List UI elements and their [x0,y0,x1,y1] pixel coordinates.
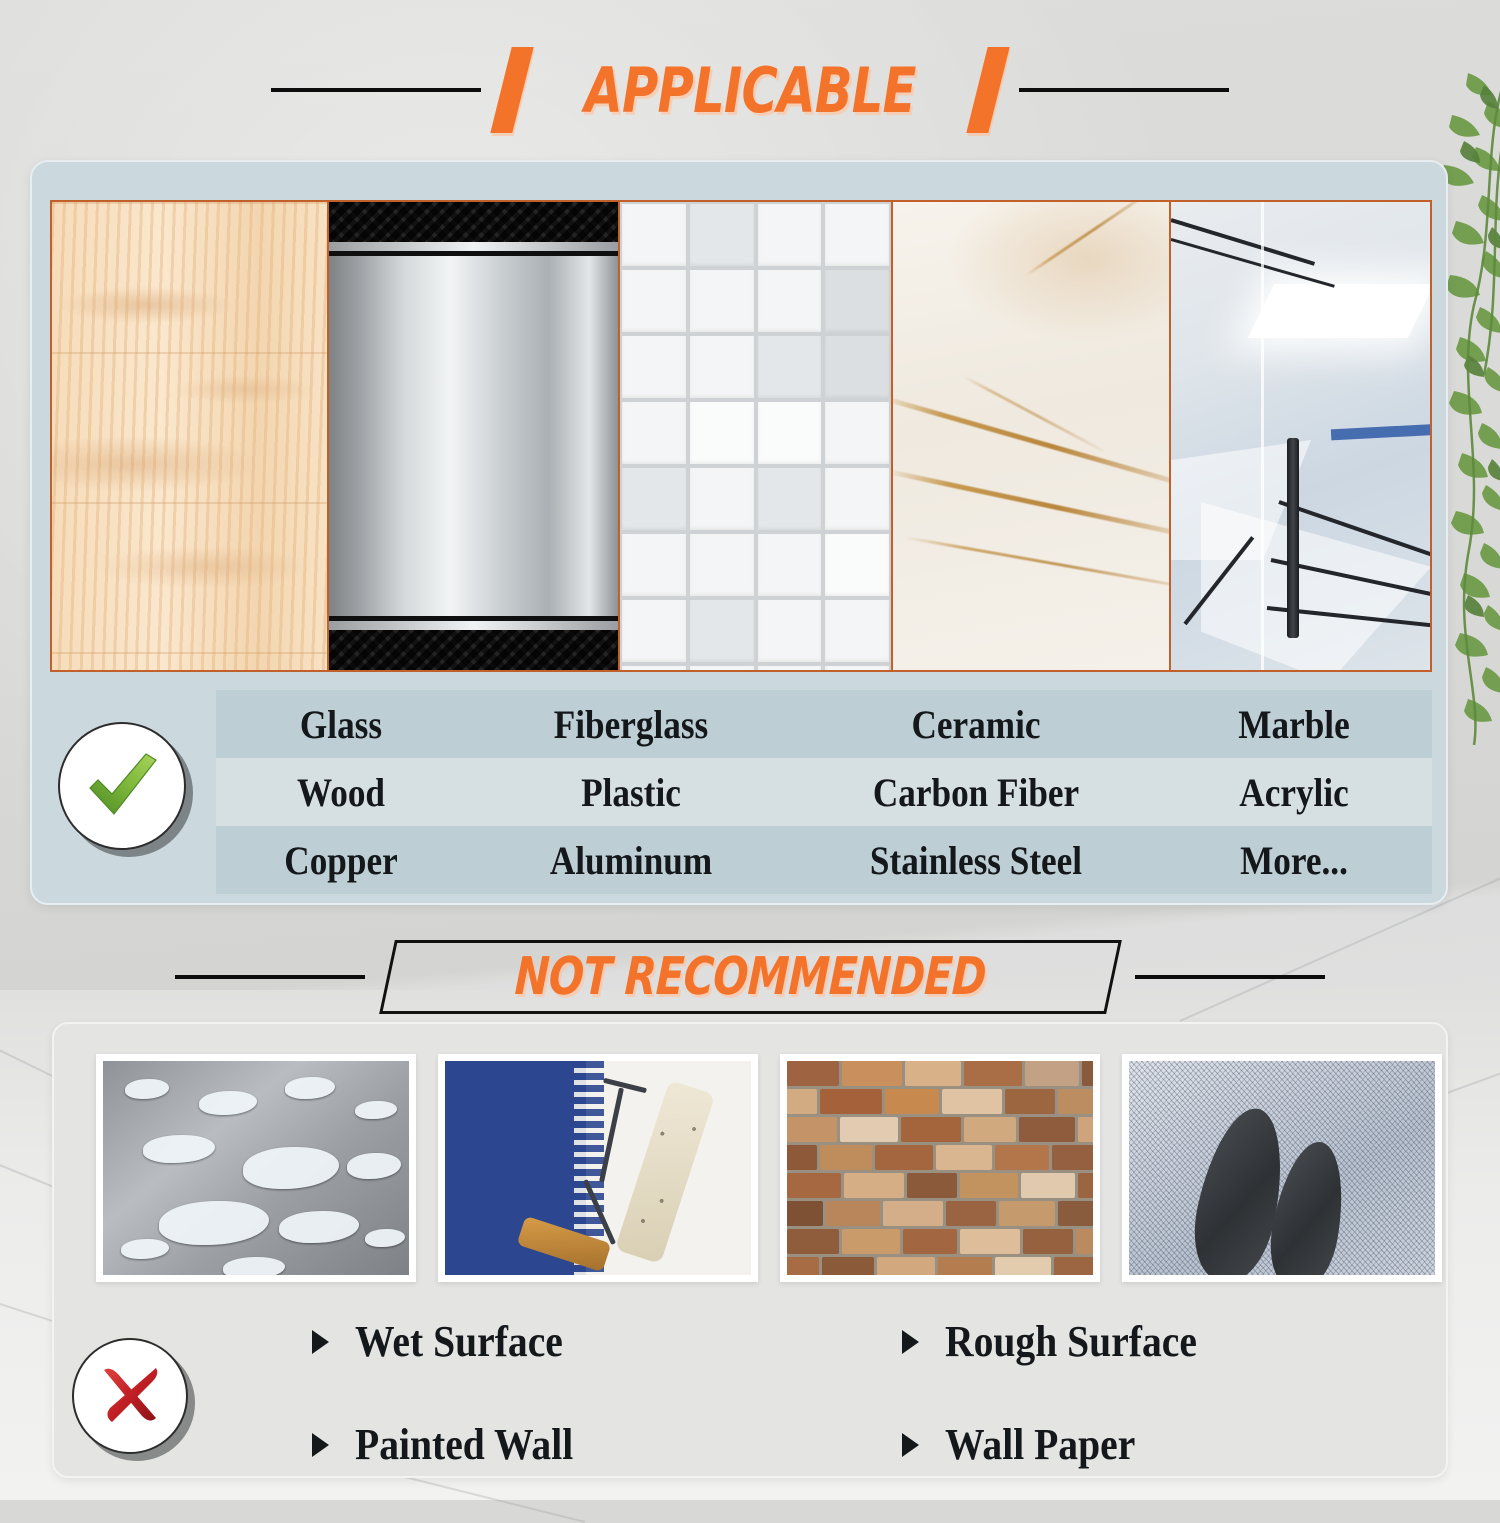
tile-cell [622,600,686,662]
not-recommended-list: Wet Surface Rough Surface Painted Wall W… [312,1316,1402,1470]
tile-cell [690,468,754,530]
brick-wall-image [787,1061,1093,1275]
brick [822,1257,874,1275]
brick [1078,1117,1093,1142]
brick [938,1257,992,1275]
wallpaper-roll-image [1129,1061,1435,1275]
tile-cell [758,534,822,596]
paint-roller-image [445,1061,751,1275]
not-recommended-title: NOT RECOMMENDED [497,947,1002,1007]
slash-left-icon [490,47,533,133]
tile-cell [758,270,822,332]
tile-cell [758,204,822,266]
list-item-label: Wall Paper [945,1419,1135,1470]
water-drop [365,1229,405,1247]
wall-paper-photo [1122,1054,1442,1282]
tile-cell [622,534,686,596]
door-handle [1287,438,1299,638]
water-drop [355,1101,397,1119]
brick [820,1145,872,1170]
painted-wall-photo [438,1054,758,1282]
brick [1005,1089,1055,1114]
brick [1025,1061,1079,1086]
tile-cell [690,666,754,670]
brick [840,1117,898,1142]
tile-cell [690,204,754,266]
water-drop [347,1153,401,1179]
skylight [1248,284,1430,338]
table-cell: Marble [1173,701,1416,748]
brick [885,1089,939,1114]
brick [842,1229,900,1254]
tile-cell [825,666,889,670]
applicable-title-core: APPLICABLE [481,47,1019,133]
water-droplets-image [103,1061,409,1275]
marble-panel [893,202,1171,670]
metal-mesh-top [329,202,618,256]
brick [787,1117,837,1142]
brick [901,1117,961,1142]
brick [1019,1117,1075,1142]
marble-vein [893,469,1171,540]
green-check-icon [76,740,168,832]
slash-right-icon [966,47,1009,133]
table-cell: Stainless Steel [818,837,1135,884]
brick-rows [787,1061,1093,1275]
brick [1078,1173,1093,1198]
brick [995,1257,1051,1275]
table-row: Copper Aluminum Stainless Steel More... [216,826,1432,894]
applicable-card: Glass Fiberglass Ceramic Marble Wood Pla… [30,160,1448,905]
water-drop [125,1079,169,1099]
glass-mullion [1261,202,1264,670]
tile-cell [622,204,686,266]
brick [960,1229,1020,1254]
table-row: Glass Fiberglass Ceramic Marble [216,690,1432,758]
not-recommended-photo-row [96,1054,1442,1282]
red-cross-icon [90,1356,170,1436]
list-item-label: Painted Wall [355,1419,573,1470]
brick [875,1145,933,1170]
blue-reflection [1331,423,1430,441]
tile-cell [825,468,889,530]
tile-cell [825,204,889,266]
brick [787,1201,823,1226]
rough-surface-photo [780,1054,1100,1282]
not-recommended-title-row: NOT RECOMMENDED [0,922,1500,1032]
title-rule-right [1135,975,1325,979]
applicable-title-row: APPLICABLE [0,42,1500,138]
roller-frame-wire [603,1078,647,1093]
roller-sleeve [615,1080,716,1264]
brick [1058,1089,1093,1114]
table-cell: Plastic [486,769,776,816]
metal-panel [329,202,620,670]
tile-cell [825,402,889,464]
triangle-bullet-icon [312,1433,329,1457]
tile-cell [758,468,822,530]
check-badge [58,722,186,850]
brick [1054,1257,1093,1275]
table-cell: More... [1173,837,1416,884]
material-photo-strip [50,200,1432,672]
tile-cell [690,270,754,332]
brick [1076,1229,1093,1254]
tile-cell [622,402,686,464]
tile-panel [620,202,893,670]
brick [960,1173,1018,1198]
tile-grid [620,202,891,670]
applicable-title: APPLICABLE [568,54,931,127]
metal-mesh-bottom [329,616,618,670]
wood-panel [52,202,329,670]
cross-badge [72,1338,188,1454]
wood-grain-texture [52,202,327,670]
brick [903,1229,957,1254]
table-cell: Glass [231,701,451,748]
brick [995,1145,1049,1170]
brick [1058,1201,1093,1226]
tile-cell [758,336,822,398]
marble-vein [893,395,1171,491]
brick [787,1145,817,1170]
not-recommended-title-box: NOT RECOMMENDED [379,940,1121,1014]
water-drop [285,1077,335,1099]
wet-surface-photo [96,1054,416,1282]
marble-vein [1025,202,1151,277]
brick-row [787,1117,1093,1145]
brick [883,1201,943,1226]
brick-row [787,1257,1093,1275]
water-drop [143,1135,215,1163]
table-cell: Carbon Fiber [818,769,1135,816]
table-cell: Acrylic [1173,769,1416,816]
brick [905,1061,961,1086]
brick [787,1229,839,1254]
brick-row [787,1229,1093,1257]
glass-panel [1171,202,1430,670]
tile-cell [758,600,822,662]
brick [787,1089,817,1114]
title-rule-left [175,975,365,979]
tile-cell [825,270,889,332]
tile-cell [825,600,889,662]
triangle-bullet-icon [902,1433,919,1457]
list-item-label: Rough Surface [945,1316,1197,1367]
tile-cell [758,666,822,670]
water-drop [243,1147,339,1189]
tile-cell [622,468,686,530]
brick [999,1201,1055,1226]
brick [787,1257,819,1275]
brick-row [787,1145,1093,1173]
list-item: Wall Paper [902,1419,1402,1470]
title-rule-left [271,88,481,92]
brick [787,1173,841,1198]
brick-row [787,1061,1093,1089]
brick [936,1145,992,1170]
brick [1052,1145,1093,1170]
water-drop [121,1239,169,1259]
water-drop [199,1091,257,1115]
table-row: Wood Plastic Carbon Fiber Acrylic [216,758,1432,826]
brick-row [787,1201,1093,1229]
tile-cell [690,402,754,464]
table-cell: Aluminum [486,837,776,884]
brick [907,1173,957,1198]
brick [877,1257,935,1275]
brick-row [787,1173,1093,1201]
roller-texture [615,1080,716,1264]
brick [946,1201,996,1226]
tile-cell [758,402,822,464]
table-cell: Wood [231,769,451,816]
title-rule-right [1019,88,1229,92]
brick [942,1089,1002,1114]
water-drop [223,1257,285,1275]
tile-cell [622,270,686,332]
not-recommended-card: Wet Surface Rough Surface Painted Wall W… [52,1022,1448,1478]
materials-table: Glass Fiberglass Ceramic Marble Wood Pla… [216,690,1432,894]
brick [844,1173,904,1198]
brick [842,1061,902,1086]
water-drop [279,1211,359,1243]
tile-cell [622,666,686,670]
brick [964,1061,1022,1086]
table-cell: Copper [231,837,451,884]
table-cell: Ceramic [818,701,1135,748]
tile-cell [690,534,754,596]
triangle-bullet-icon [902,1330,919,1354]
tile-cell [622,336,686,398]
brick [1082,1061,1093,1086]
tile-cell [690,336,754,398]
brick [1021,1173,1075,1198]
list-item: Wet Surface [312,1316,902,1367]
tile-cell [690,600,754,662]
brick-row [787,1089,1093,1117]
triangle-bullet-icon [312,1330,329,1354]
tile-cell [825,336,889,398]
brick [820,1089,882,1114]
tile-cell [825,534,889,596]
brick [1023,1229,1073,1254]
brick [787,1061,839,1086]
list-item: Painted Wall [312,1419,902,1470]
brick [964,1117,1016,1142]
brick [826,1201,880,1226]
table-cell: Fiberglass [486,701,776,748]
water-drop [159,1201,269,1245]
list-item: Rough Surface [902,1316,1402,1367]
list-item-label: Wet Surface [355,1316,563,1367]
marble-vein [905,536,1171,591]
